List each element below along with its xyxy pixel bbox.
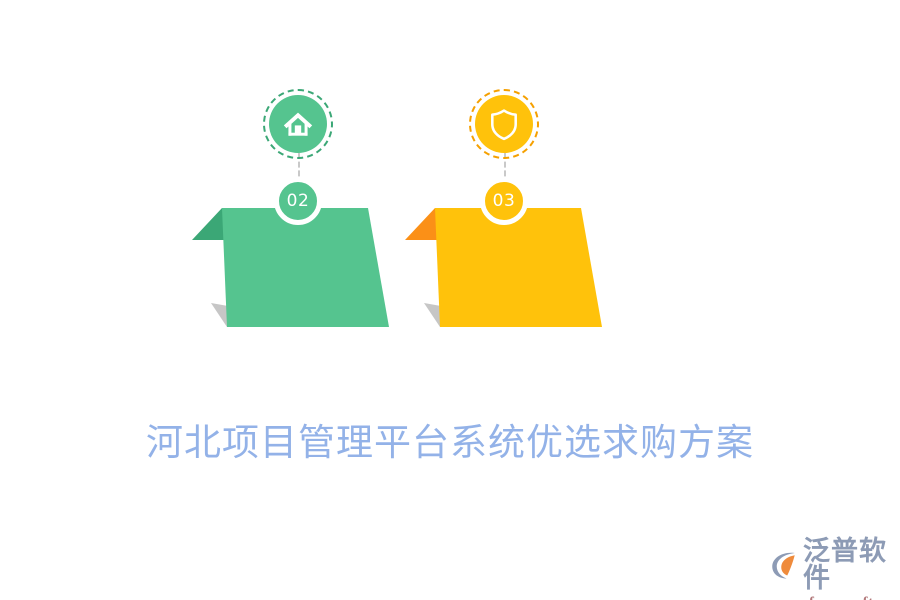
step-number-03: 03 — [493, 191, 516, 211]
banner-shadow-02 — [211, 303, 262, 327]
banner-fold-02 — [192, 208, 253, 240]
step-badge-02[interactable]: 02 — [274, 177, 322, 225]
brand-logo[interactable]: 泛普软件 www.fanpusoft.com — [770, 538, 900, 600]
fanpu-mark-icon — [770, 550, 800, 580]
step-number-02: 02 — [287, 191, 310, 211]
infographic-canvas: 02 03 河北项目管理平台系统优选求购方案 泛普软件 www.fanpusof… — [0, 0, 900, 600]
banner-body-02 — [222, 208, 389, 327]
logo-url: www.fanpusoft.com — [772, 595, 900, 600]
page-title: 河北项目管理平台系统优选求购方案 — [0, 412, 900, 466]
banner-body-03 — [435, 208, 602, 327]
icon-bubble-02[interactable] — [269, 95, 327, 153]
banner-fold-03 — [405, 208, 466, 240]
banners-svg — [0, 0, 900, 600]
shield-icon — [487, 107, 521, 141]
icon-bubble-03[interactable] — [475, 95, 533, 153]
step-badge-03[interactable]: 03 — [480, 177, 528, 225]
logo-row: 泛普软件 — [770, 538, 900, 592]
logo-name: 泛普软件 — [803, 538, 900, 592]
banner-shadow-03 — [424, 303, 475, 327]
banner-group — [0, 0, 900, 600]
home-icon — [281, 107, 315, 141]
